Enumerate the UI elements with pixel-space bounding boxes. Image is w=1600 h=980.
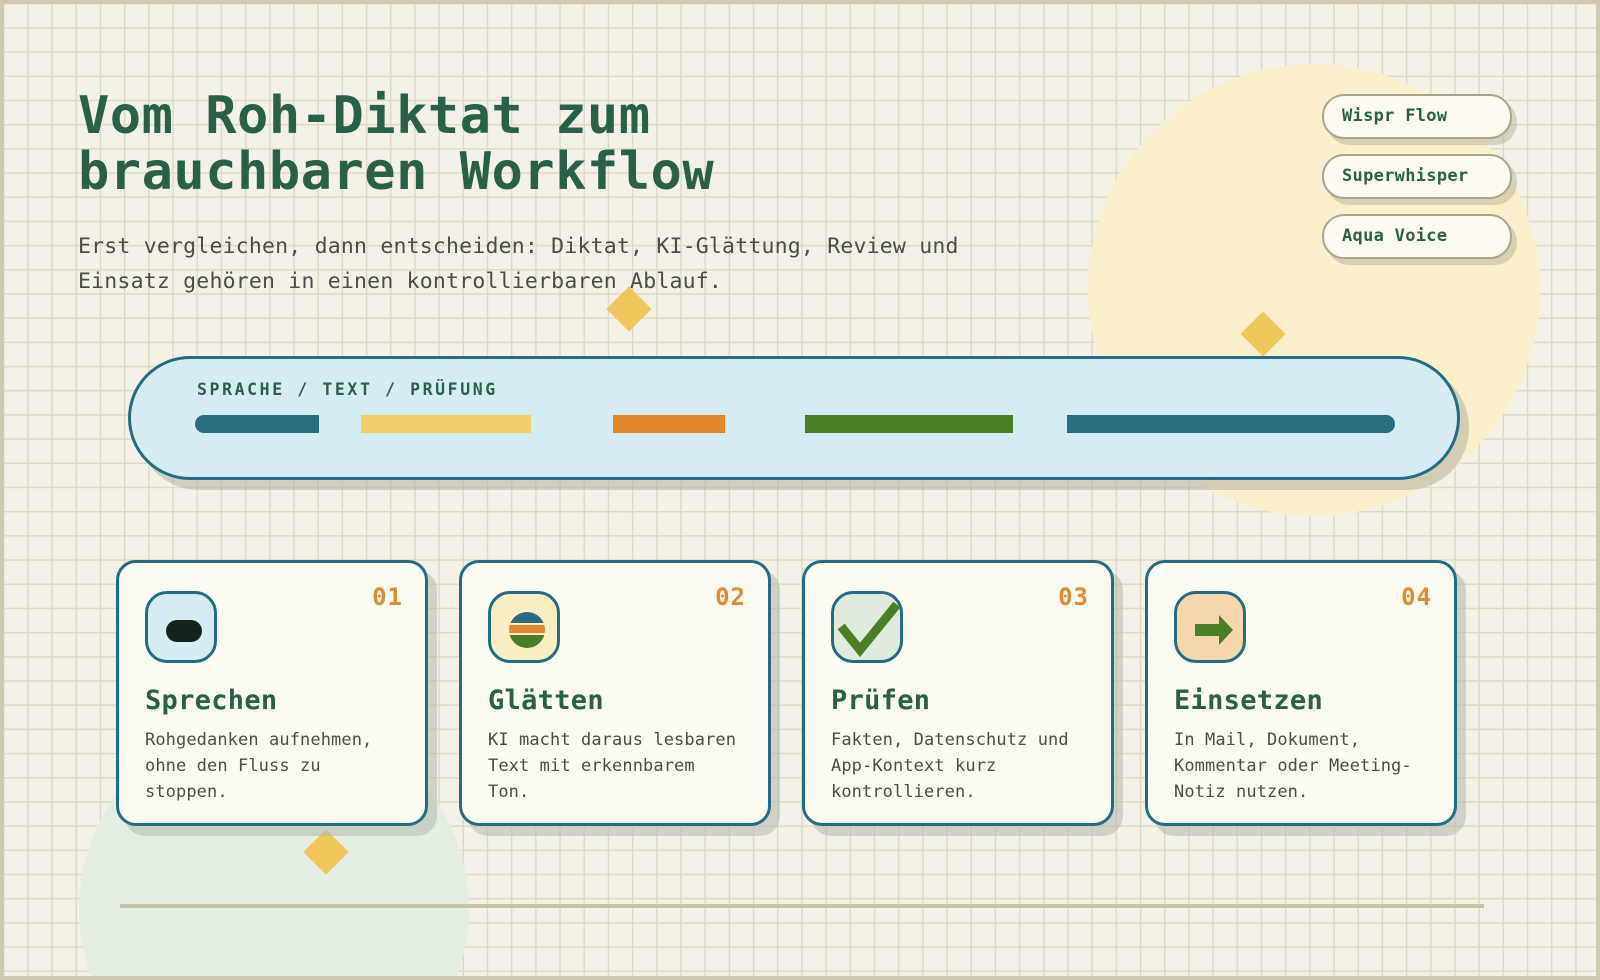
step-description: KI macht daraus lesbaren Text mit erkenn… [488,727,742,805]
pipeline-banner-label: SPRACHE / TEXT / PRÜFUNG [197,380,498,399]
step-card-pruefen[interactable]: 03 Prüfen Fakten, Datenschutz und App-Ko… [802,560,1114,826]
badge-label: Aqua Voice [1342,226,1447,246]
bar-review [613,415,725,433]
decorative-diamond-3 [303,829,348,874]
badge-label: Superwhisper [1342,166,1468,186]
microphone-capsule-icon [145,591,217,663]
page-subtitle: Erst vergleichen, dann entscheiden: Dikt… [78,230,978,300]
step-number: 02 [715,583,746,611]
pipeline-bar-track [195,415,1395,433]
pipeline-banner: SPRACHE / TEXT / PRÜFUNG [128,356,1460,480]
step-card-sprechen[interactable]: 01 Sprechen Rohgedanken aufnehmen, ohne … [116,560,428,826]
step-card-einsetzen[interactable]: 04 Einsetzen In Mail, Dokument, Kommenta… [1145,560,1457,826]
bar-deploy [1067,415,1395,433]
badge-aqua-voice[interactable]: Aqua Voice [1322,214,1512,259]
step-description: In Mail, Dokument, Kommentar oder Meetin… [1174,727,1428,805]
bar-speech [195,415,319,433]
step-number: 01 [372,583,403,611]
step-description: Fakten, Datenschutz und App-Kontext kurz… [831,727,1085,805]
layered-circle-icon [488,591,560,663]
step-title: Einsetzen [1174,685,1428,716]
step-title: Glätten [488,685,742,716]
page-title: Vom Roh-Diktat zum brauchbaren Workflow [78,88,1018,200]
bar-check [805,415,1013,433]
step-number: 03 [1058,583,1089,611]
step-card-glaetten[interactable]: 02 Glätten KI macht daraus lesbaren Text… [459,560,771,826]
badge-label: Wispr Flow [1342,106,1447,126]
tool-badge-list: Wispr Flow Superwhisper Aqua Voice [1322,94,1512,259]
decorative-diamond-2 [1240,311,1285,356]
badge-wispr-flow[interactable]: Wispr Flow [1322,94,1512,139]
bar-ai [361,415,531,433]
workflow-step-cards: 01 Sprechen Rohgedanken aufnehmen, ohne … [116,560,1488,826]
infographic-canvas: Vom Roh-Diktat zum brauchbaren Workflow … [0,0,1600,980]
footer-divider [120,904,1484,908]
checkmark-icon [831,591,903,663]
badge-superwhisper[interactable]: Superwhisper [1322,154,1512,199]
arrow-right-icon [1174,591,1246,663]
step-title: Prüfen [831,685,1085,716]
step-description: Rohgedanken aufnehmen, ohne den Fluss zu… [145,727,399,805]
step-title: Sprechen [145,685,399,716]
step-number: 04 [1401,583,1432,611]
